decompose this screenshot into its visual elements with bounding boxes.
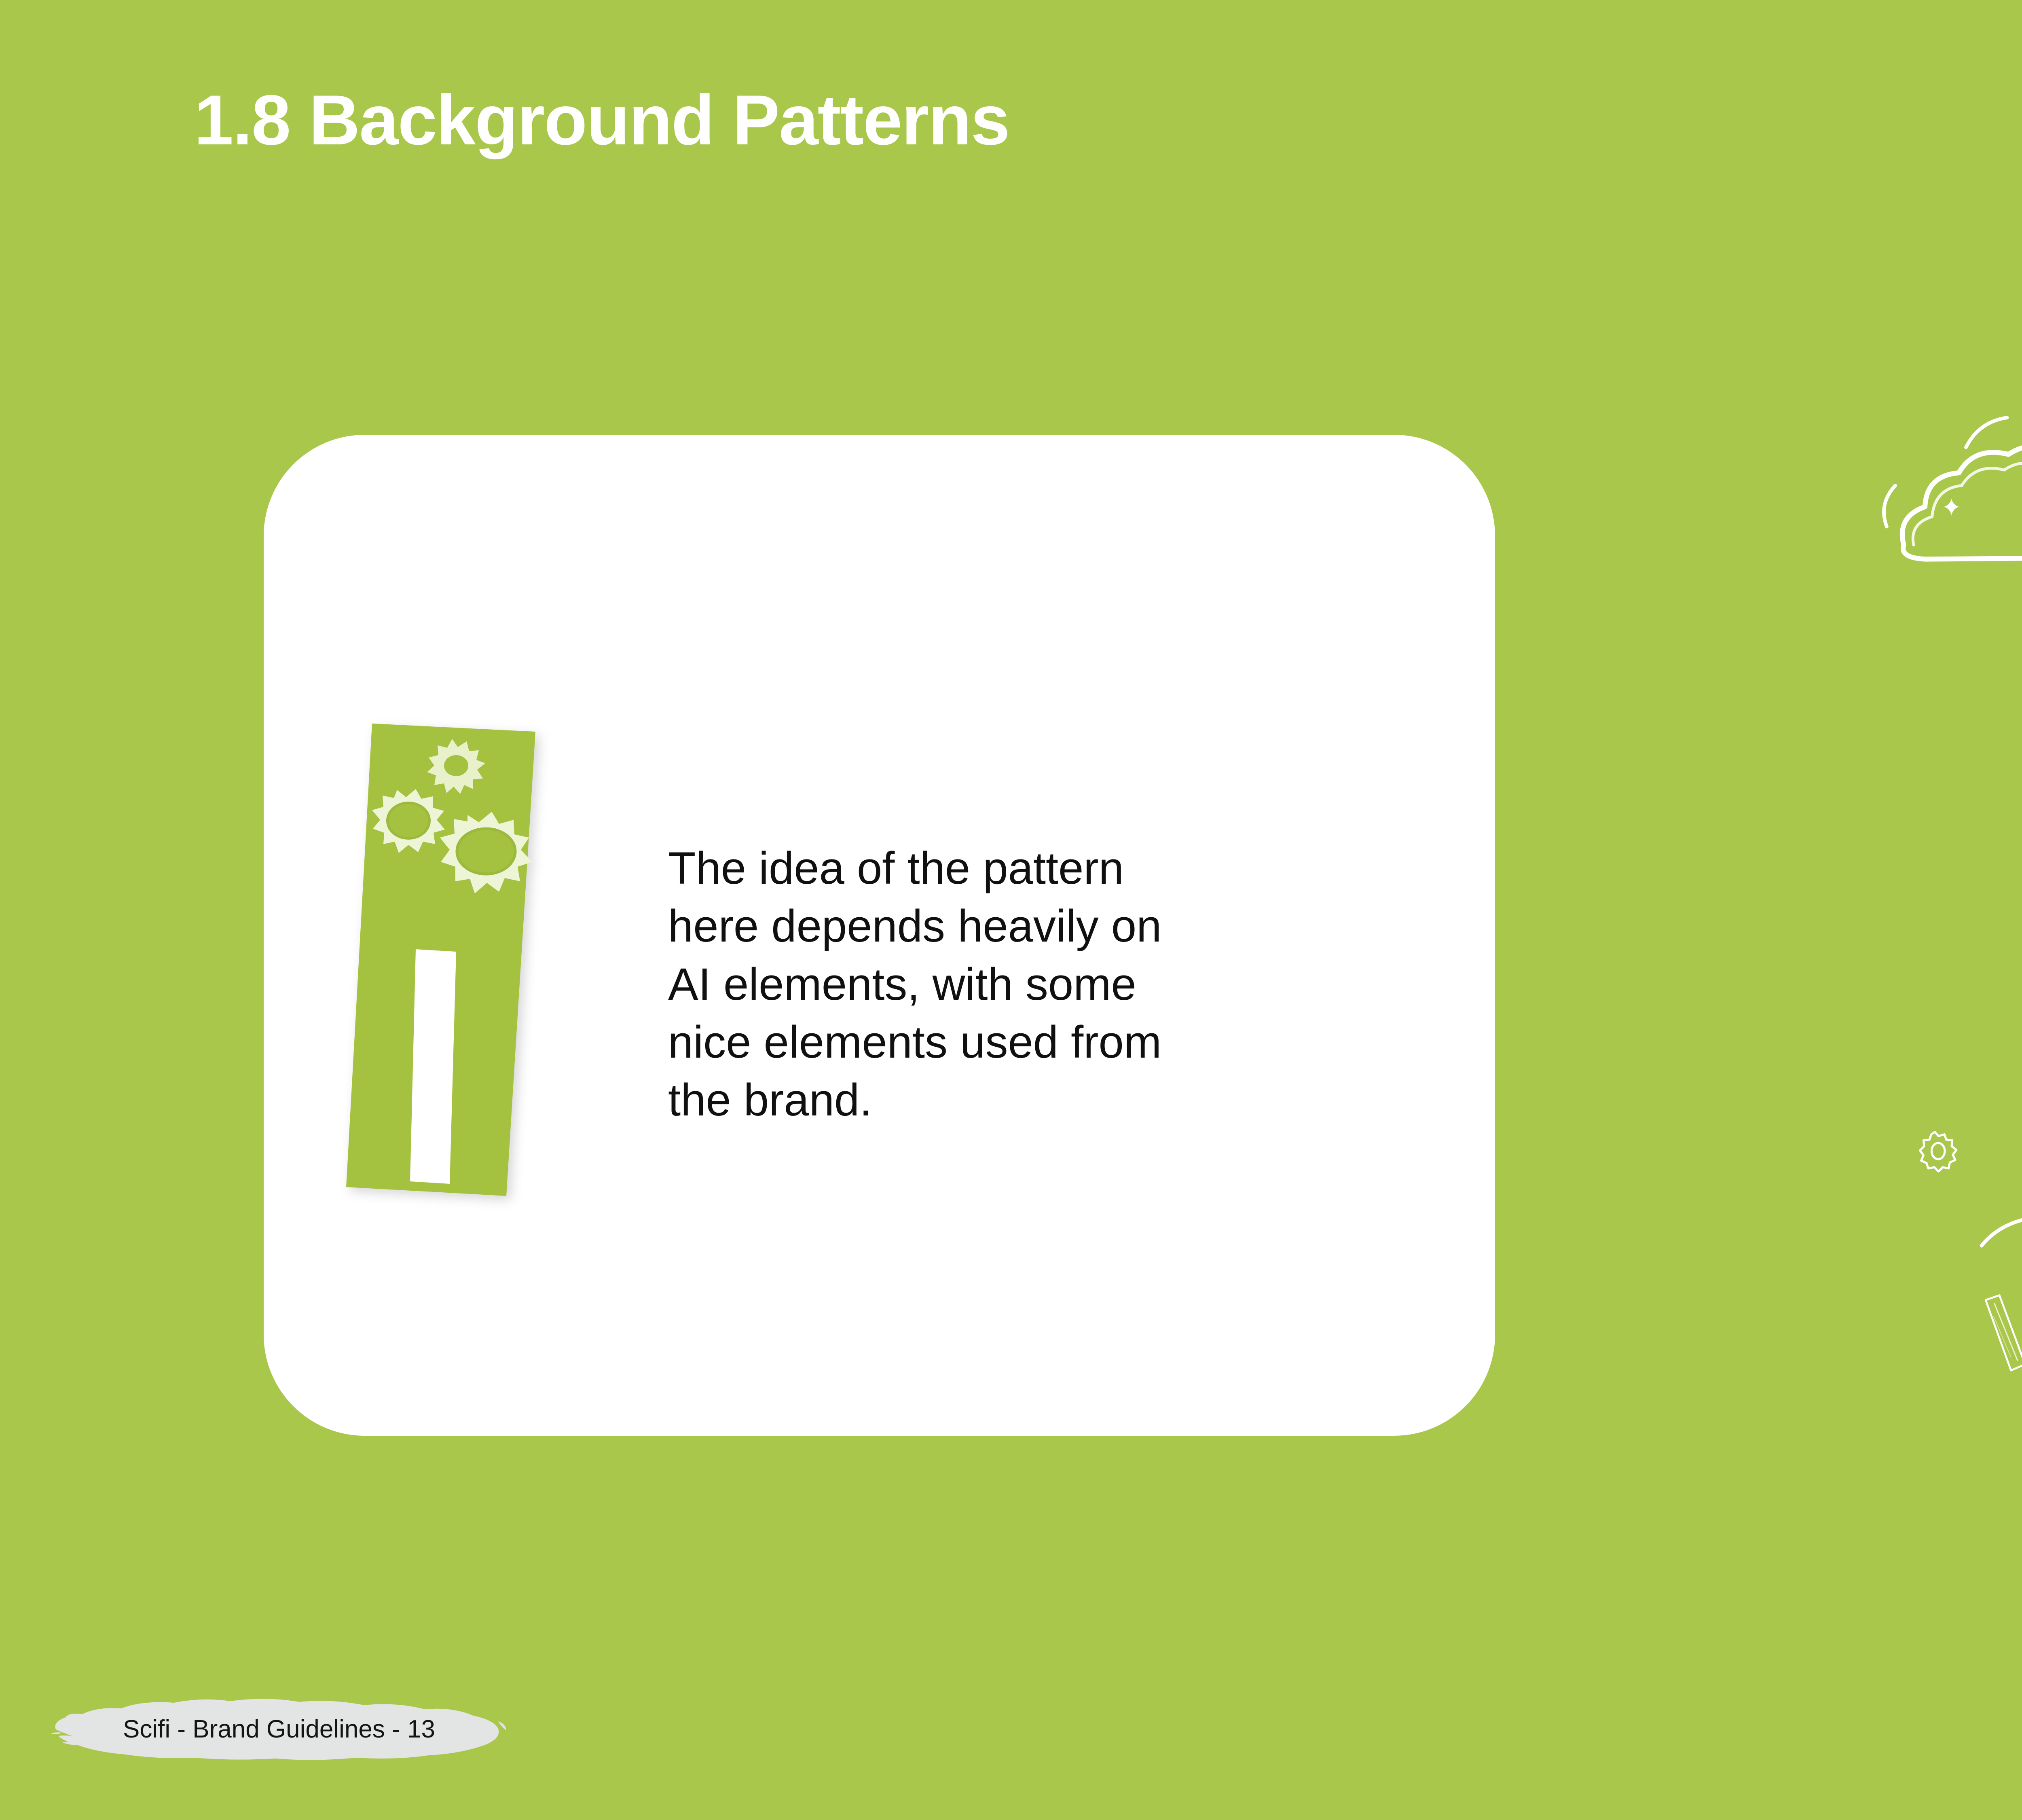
card-body-text: The idea of the pattern here depends hea… [668,839,1174,1129]
pattern-svg [1698,0,2022,1820]
background-pattern-region [1698,0,2022,1820]
content-card: The idea of the pattern here depends hea… [264,435,1495,1436]
page-title: 1.8 Background Patterns [194,85,1009,156]
pattern-thumbnail[interactable] [336,718,543,1199]
footer-stamp: Scifi - Brand Guidelines - 13 [40,1695,518,1763]
slide-canvas: 1.8 Background Patterns [0,0,2022,1820]
footer-label: Scifi - Brand Guidelines - 13 [40,1695,518,1763]
pattern-thumbnail-svg [336,718,543,1199]
